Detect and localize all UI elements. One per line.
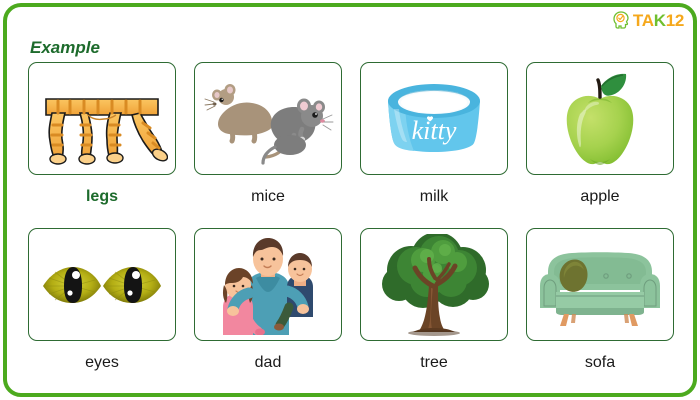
example-item-eyes[interactable]: eyes xyxy=(28,228,176,372)
father-with-children-illustration xyxy=(209,235,327,335)
worksheet-page: TAK12 Example xyxy=(0,0,700,400)
kitty-milk-bowl-illustration: kitty xyxy=(372,73,496,165)
image-card[interactable] xyxy=(526,228,674,341)
tiger-legs-illustration xyxy=(36,69,168,169)
grid-row: legs xyxy=(28,62,674,206)
item-label: tree xyxy=(420,354,448,372)
logo-text-12: 12 xyxy=(666,11,684,30)
tak12-logo: TAK12 xyxy=(612,9,684,31)
grid-row: eyes xyxy=(28,228,674,372)
image-card[interactable] xyxy=(28,62,176,175)
image-card[interactable] xyxy=(194,228,342,341)
example-item-dad[interactable]: dad xyxy=(194,228,342,372)
item-label: eyes xyxy=(85,354,119,372)
image-card[interactable] xyxy=(194,62,342,175)
green-sofa-illustration xyxy=(534,242,666,328)
example-item-apple[interactable]: apple xyxy=(526,62,674,206)
item-label: apple xyxy=(580,188,619,206)
brain-check-head-icon xyxy=(612,11,630,30)
image-card[interactable]: kitty xyxy=(360,62,508,175)
item-label: legs xyxy=(86,188,118,206)
logo-wordmark: TAK12 xyxy=(633,11,684,30)
green-tree-illustration xyxy=(371,234,497,336)
item-label: milk xyxy=(420,188,448,206)
image-card[interactable] xyxy=(28,228,176,341)
example-item-sofa[interactable]: sofa xyxy=(526,228,674,372)
green-apple-illustration xyxy=(548,69,652,169)
example-grid: legs xyxy=(28,62,674,372)
example-item-tree[interactable]: tree xyxy=(360,228,508,372)
example-item-milk[interactable]: kitty milk xyxy=(360,62,508,206)
bowl-label-text: kitty xyxy=(412,116,457,145)
cat-eyes-illustration xyxy=(37,250,167,320)
item-label: dad xyxy=(255,354,282,372)
item-label: mice xyxy=(251,188,285,206)
image-card[interactable] xyxy=(526,62,674,175)
example-item-legs[interactable]: legs xyxy=(28,62,176,206)
item-label: sofa xyxy=(585,354,615,372)
two-mice-illustration xyxy=(202,69,334,169)
page-title: Example xyxy=(30,38,100,58)
example-item-mice[interactable]: mice xyxy=(194,62,342,206)
logo-text-k: K xyxy=(654,11,666,30)
logo-text-ta: TA xyxy=(633,11,654,30)
image-card[interactable] xyxy=(360,228,508,341)
